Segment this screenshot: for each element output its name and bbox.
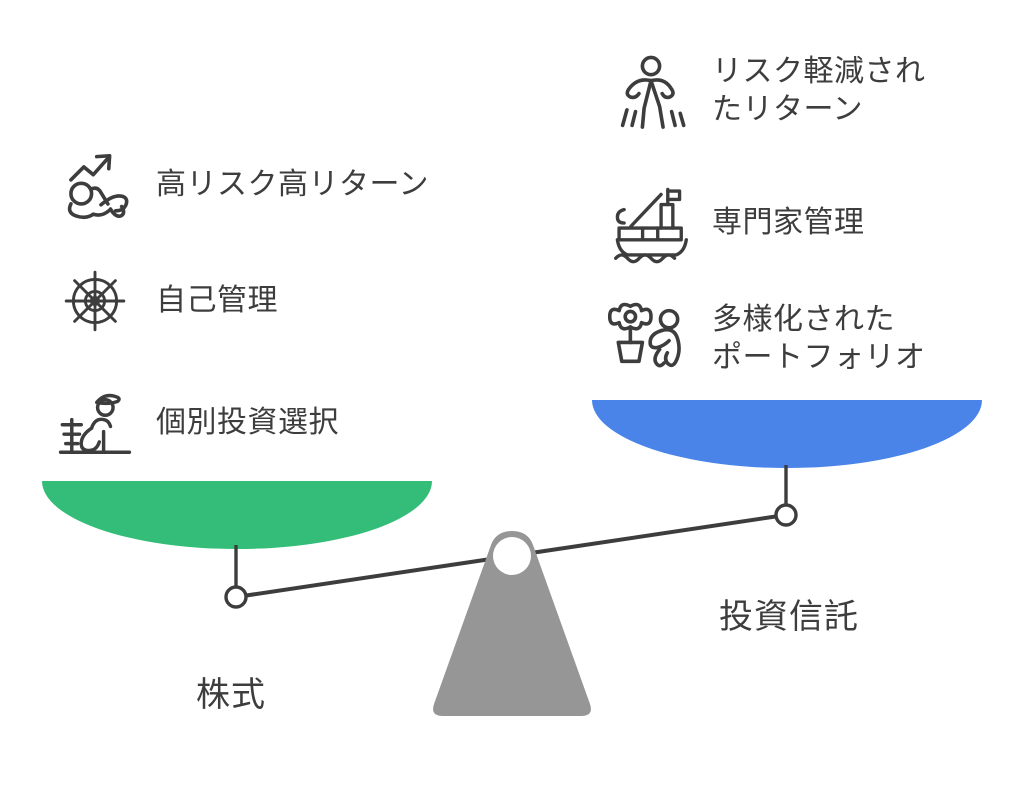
right-side-name: 投資信託: [719, 589, 859, 638]
fulcrum: [433, 531, 591, 716]
fulcrum-hole: [493, 537, 531, 575]
left-hanger-ring: [226, 587, 246, 607]
balance-scale: [0, 0, 1024, 790]
infographic-canvas: 高リスク高リターン 自己管理: [0, 0, 1024, 790]
left-pan: [42, 481, 432, 549]
left-side-name: 株式: [196, 667, 266, 716]
right-hanger-ring: [776, 505, 796, 525]
right-pan: [592, 400, 982, 468]
